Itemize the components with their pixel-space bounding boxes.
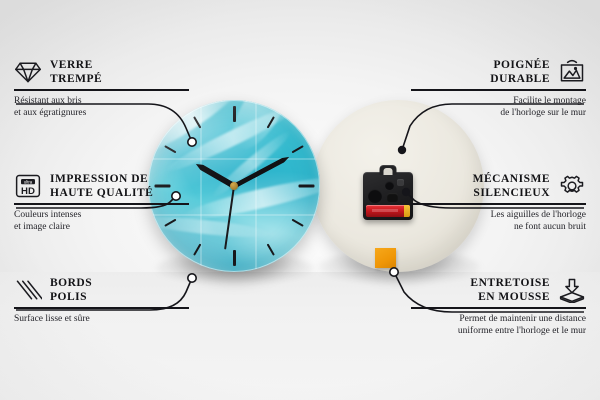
callout-impression-haute-qualite: ultra HD IMPRESSION DE HAUTE QUALITÉ Cou… [14, 172, 189, 234]
callout-description: Couleurs intenses et image claire [14, 209, 189, 234]
callout-mecanisme-silencieux: MÉCANISME SILENCIEUX Les aiguilles de l'… [411, 172, 586, 234]
clock-mechanism [363, 172, 413, 220]
glass-grid-line [255, 100, 257, 272]
mechanism-dial [387, 193, 398, 202]
battery-cap [404, 205, 410, 217]
polished-edges-icon [14, 277, 42, 303]
callout-description: Les aiguilles de l'horloge ne font aucun… [411, 209, 586, 234]
foam-spacer [375, 248, 396, 268]
callout-rule [14, 203, 189, 205]
callout-title: BORDS POLIS [50, 276, 189, 304]
foam-spacer-icon [558, 277, 586, 303]
picture-frame-icon [558, 59, 586, 85]
callout-header: ENTRETOISE EN MOUSSE [411, 276, 586, 304]
hour-tick-12 [233, 106, 236, 122]
mechanism-dial [385, 181, 394, 190]
hour-tick-6 [233, 250, 236, 266]
battery-stripe [372, 209, 398, 212]
mechanism-dial [368, 189, 382, 203]
hour-tick-4 [292, 219, 304, 227]
mechanism-dial [397, 179, 404, 186]
callout-description: Surface lisse et sûre [14, 313, 189, 326]
callout-title: POIGNÉE DURABLE [411, 58, 550, 86]
hour-tick-2 [292, 145, 304, 153]
callout-rule [411, 89, 586, 91]
hands-center-cap [230, 182, 238, 190]
hanging-tab-icon [380, 165, 397, 175]
svg-text:ultra: ultra [24, 179, 33, 184]
callout-title: ENTRETOISE EN MOUSSE [411, 276, 550, 304]
callout-description: Résistant aux bris et aux égratignures [14, 95, 189, 120]
callout-poignee-durable: POIGNÉE DURABLE Facilite le montage de l… [411, 58, 586, 120]
callout-rule [14, 307, 189, 309]
callout-header: POIGNÉE DURABLE [411, 58, 586, 86]
svg-text:HD: HD [21, 186, 35, 197]
hour-tick-3 [298, 185, 314, 188]
callout-header: VERRE TREMPÉ [14, 58, 189, 86]
callout-rule [411, 307, 586, 309]
callout-header: MÉCANISME SILENCIEUX [411, 172, 586, 200]
callout-title: IMPRESSION DE HAUTE QUALITÉ [50, 172, 189, 200]
second-hand [224, 186, 235, 250]
scene-background: VERRE TREMPÉ Résistant aux bris et aux é… [0, 0, 600, 400]
callout-rule [411, 203, 586, 205]
callout-bords-polis: BORDS POLIS Surface lisse et sûre [14, 276, 189, 325]
hour-tick-5 [267, 244, 275, 256]
diamond-icon [14, 59, 42, 85]
glass-grid-line [148, 158, 320, 160]
callout-title: VERRE TREMPÉ [50, 58, 189, 86]
callout-verre-trempe: VERRE TREMPÉ Résistant aux bris et aux é… [14, 58, 189, 120]
gear-icon [558, 173, 586, 199]
hour-tick-10 [164, 145, 176, 153]
callout-entretoise-en-mousse: ENTRETOISE EN MOUSSE Permet de maintenir… [411, 276, 586, 338]
callout-description: Facilite le montage de l'horloge sur le … [411, 95, 586, 120]
callout-header: BORDS POLIS [14, 276, 189, 304]
callout-header: ultra HD IMPRESSION DE HAUTE QUALITÉ [14, 172, 189, 200]
callout-description: Permet de maintenir une distance uniform… [411, 313, 586, 338]
ultra-hd-icon: ultra HD [14, 173, 42, 199]
callout-title: MÉCANISME SILENCIEUX [411, 172, 550, 200]
callout-rule [14, 89, 189, 91]
battery [366, 205, 410, 217]
